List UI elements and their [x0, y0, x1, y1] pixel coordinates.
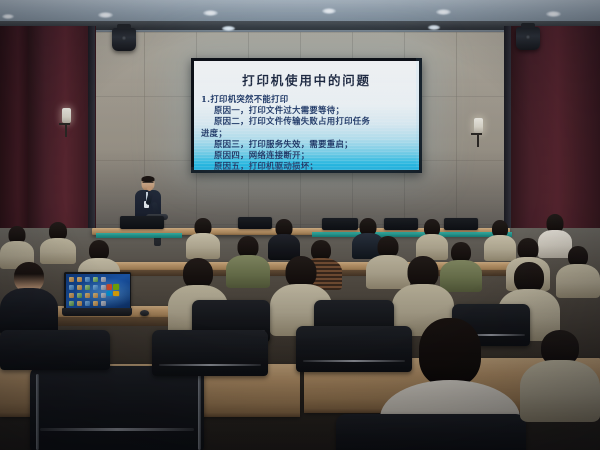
- windows-logo-icon: [107, 284, 120, 297]
- desktop-icon: [69, 285, 74, 290]
- desktop-icon: [77, 277, 82, 282]
- ceiling-downlight: [436, 9, 451, 15]
- chair-back: [152, 330, 268, 376]
- wall-sconce-light: [474, 118, 483, 147]
- desk-monitor: [384, 218, 418, 230]
- ceiling-speaker: [516, 27, 540, 50]
- desktop-icon: [101, 285, 106, 290]
- attendee-shirt: [556, 264, 600, 298]
- attendee: [0, 262, 58, 332]
- desktop-icon: [101, 301, 106, 306]
- attendee-shirt: [40, 238, 76, 264]
- desk-monitor: [444, 218, 478, 230]
- beam-downlight: [428, 25, 440, 30]
- speaker-bracket: [117, 24, 131, 29]
- desktop-icon: [85, 301, 90, 306]
- ceiling-downlight: [546, 11, 561, 17]
- desktop-icon: [93, 293, 98, 298]
- attendee-shirt: [520, 360, 600, 422]
- desktop-icon: [69, 277, 74, 282]
- attendee-shirt: [186, 233, 220, 259]
- chair-back: [296, 326, 412, 372]
- attendee: [268, 219, 300, 259]
- attendee-shirt: [0, 288, 58, 336]
- laptop-lid: [64, 272, 131, 311]
- attendee-head: [419, 318, 481, 386]
- desktop-icon: [85, 285, 90, 290]
- left-pillar-edge: [88, 26, 95, 256]
- attendee: [40, 222, 76, 262]
- slide-line: 原因一，打印文件过大需要等待；: [214, 105, 413, 116]
- desktop-icon: [77, 285, 82, 290]
- laptop-desk-front: [56, 317, 180, 326]
- desktop-icon: [85, 293, 90, 298]
- chair-leg: [198, 374, 201, 450]
- wall-sconce-light: [62, 108, 71, 137]
- sconce-shade: [474, 118, 483, 133]
- chair-chrome-rim: [40, 428, 193, 431]
- desktop-icon: [85, 277, 90, 282]
- desktop-icon: [69, 301, 74, 306]
- desktop-icon: [101, 277, 106, 282]
- attendee: [186, 218, 220, 258]
- chair-chrome-rim: [303, 360, 405, 362]
- chair-leg: [36, 374, 39, 450]
- ceiling-speaker: [112, 28, 136, 51]
- desktop-icon: [77, 301, 82, 306]
- speaker-cone: [122, 35, 127, 40]
- slide-line: 原因二，打印文件传输失败占用打印任务: [214, 116, 413, 127]
- attendee: [556, 246, 600, 298]
- slide-line: 进度；: [201, 128, 413, 139]
- ceiling-downlight: [2, 14, 14, 19]
- ceiling-downlight: [98, 12, 113, 18]
- sconce-arm: [477, 133, 479, 147]
- slide-line: 原因三，打印服务失效，需要重启；: [214, 139, 413, 150]
- desktop-icon: [93, 285, 98, 290]
- slide-line: 1.打印机突然不能打印: [201, 94, 413, 105]
- desktop-icon: [77, 293, 82, 298]
- speaker-bracket: [521, 23, 535, 28]
- desktop-icon: [93, 277, 98, 282]
- desktop-icon: [69, 293, 74, 298]
- beam-downlight: [222, 26, 235, 31]
- ceiling-downlight: [203, 10, 218, 16]
- far-desk-teal-edge: [312, 232, 512, 237]
- attendee: [520, 330, 600, 420]
- chair-back-foreground: [336, 414, 526, 450]
- desk-monitor: [238, 217, 272, 229]
- laptop-base: [62, 308, 132, 316]
- presenter-hand: [147, 186, 152, 191]
- attendee: [226, 236, 270, 286]
- attendee-shirt: [226, 255, 270, 288]
- presentation-display: 打印机使用中的问题 1.打印机突然不能打印 原因一，打印文件过大需要等待； 原因…: [191, 58, 422, 173]
- slide-surface: 打印机使用中的问题 1.打印机突然不能打印 原因一，打印文件过大需要等待； 原因…: [194, 61, 419, 170]
- far-desk-teal-edge: [96, 233, 182, 238]
- chair-chrome-rim: [159, 364, 261, 366]
- chair-back-foreground: [30, 366, 204, 450]
- desktop-icon: [93, 301, 98, 306]
- computer-mouse: [140, 310, 149, 316]
- attendee-laptop: [64, 272, 134, 318]
- speaker-cone: [526, 34, 531, 39]
- desktop-icon-grid: [69, 277, 107, 307]
- sconce-arm: [65, 123, 67, 137]
- sconce-crossbar: [59, 123, 70, 125]
- sconce-shade: [62, 108, 71, 123]
- sconce-crossbar: [471, 133, 482, 135]
- desk-monitor: [120, 216, 164, 229]
- desktop-icon: [101, 293, 106, 298]
- slide-title: 打印机使用中的问题: [194, 70, 419, 89]
- laptop-screen: [66, 274, 130, 310]
- photo-scene: 打印机使用中的问题 1.打印机突然不能打印 原因一，打印文件过大需要等待； 原因…: [0, 0, 600, 450]
- chair-back: [0, 330, 110, 370]
- slide-line: 原因五，打印机驱动损坏；: [214, 161, 413, 170]
- ceiling-downlight: [322, 8, 336, 14]
- slide-body: 1.打印机突然不能打印 原因一，打印文件过大需要等待； 原因二，打印文件传输失败…: [194, 94, 419, 170]
- slide-line: 原因四，网络连接断开；: [214, 150, 413, 161]
- left-wood-trim: [0, 26, 30, 256]
